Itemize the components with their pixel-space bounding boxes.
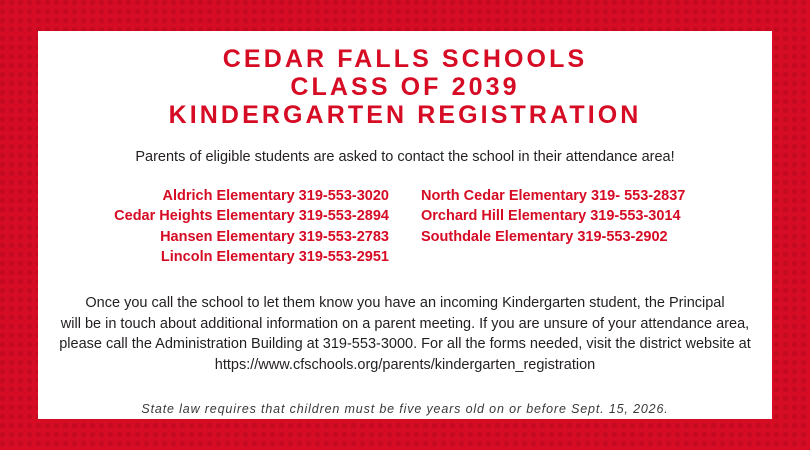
title-line-district: CEDAR FALLS SCHOOLS bbox=[38, 45, 772, 73]
school-entry-north-cedar: North Cedar Elementary 319- 553-2837 bbox=[421, 186, 715, 206]
title-line-class-year: CLASS OF 2039 bbox=[38, 73, 772, 101]
instructions-line-2: will be in touch about additional inform… bbox=[52, 314, 758, 335]
school-entry-southdale: Southdale Elementary 319-553-2902 bbox=[421, 227, 715, 247]
flyer-poster: CEDAR FALLS SCHOOLS CLASS OF 2039 KINDER… bbox=[0, 0, 810, 450]
school-entry-cedar-heights: Cedar Heights Elementary 319-553-2894 bbox=[95, 206, 389, 226]
subtitle-text: Parents of eligible students are asked t… bbox=[38, 129, 772, 166]
district-website-url: https://www.cfschools.org/parents/kinder… bbox=[52, 355, 758, 376]
page-title: CEDAR FALLS SCHOOLS CLASS OF 2039 KINDER… bbox=[38, 31, 772, 129]
instructions-paragraph: Once you call the school to let them kno… bbox=[38, 267, 772, 375]
school-entry-orchard-hill: Orchard Hill Elementary 319-553-3014 bbox=[421, 206, 715, 226]
instructions-line-3: please call the Administration Building … bbox=[52, 334, 758, 355]
content-panel: CEDAR FALLS SCHOOLS CLASS OF 2039 KINDER… bbox=[38, 31, 772, 419]
instructions-line-1: Once you call the school to let them kno… bbox=[52, 293, 758, 314]
school-entry-aldrich: Aldrich Elementary 319-553-3020 bbox=[95, 186, 389, 206]
age-requirement-footnote: State law requires that children must be… bbox=[38, 375, 772, 417]
school-entry-hansen: Hansen Elementary 319-553-2783 bbox=[95, 227, 389, 247]
title-line-registration: KINDERGARTEN REGISTRATION bbox=[38, 101, 772, 129]
school-column-left: Aldrich Elementary 319-553-3020 Cedar He… bbox=[95, 186, 405, 267]
school-column-right: North Cedar Elementary 319- 553-2837 Orc… bbox=[405, 186, 715, 247]
school-contact-list: Aldrich Elementary 319-553-3020 Cedar He… bbox=[38, 166, 772, 267]
school-entry-lincoln: Lincoln Elementary 319-553-2951 bbox=[95, 247, 389, 267]
